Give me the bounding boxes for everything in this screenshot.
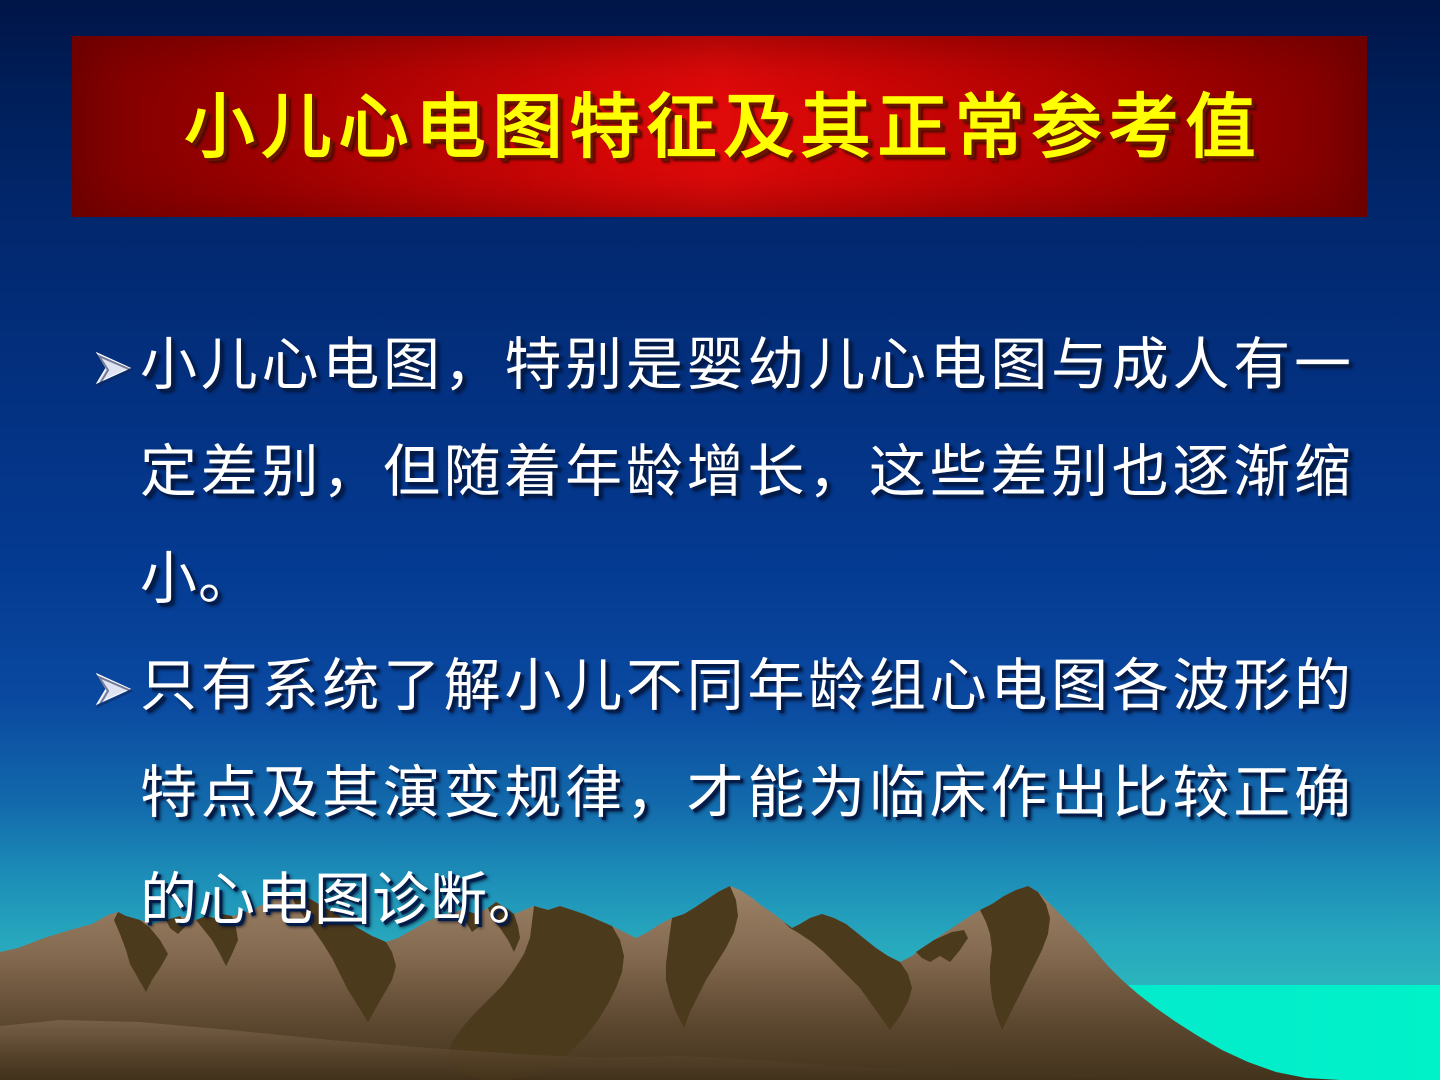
bullet-item: 只有系统了解小儿不同年龄组心电图各波形的特点及其演变规律，才能为临床作出比较正确… [92,633,1352,954]
bullet-item: 小儿心电图，特别是婴幼儿心电图与成人有一定差别，但随着年龄增长，这些差别也逐渐缩… [92,312,1352,633]
arrowhead-bullet-icon [92,633,140,742]
bullet-text: 只有系统了解小儿不同年龄组心电图各波形的特点及其演变规律，才能为临床作出比较正确… [140,633,1352,954]
slide-canvas: 小儿心电图特征及其正常参考值 小儿心电图，特别是婴幼儿心电图与成人有一定差别，但… [0,0,1440,1080]
body-content: 小儿心电图，特别是婴幼儿心电图与成人有一定差别，但随着年龄增长，这些差别也逐渐缩… [92,312,1352,954]
arrowhead-bullet-icon [92,312,140,421]
page-title: 小儿心电图特征及其正常参考值 [177,92,1263,162]
title-banner: 小儿心电图特征及其正常参考值 [72,36,1367,217]
bullet-text: 小儿心电图，特别是婴幼儿心电图与成人有一定差别，但随着年龄增长，这些差别也逐渐缩… [140,312,1352,633]
